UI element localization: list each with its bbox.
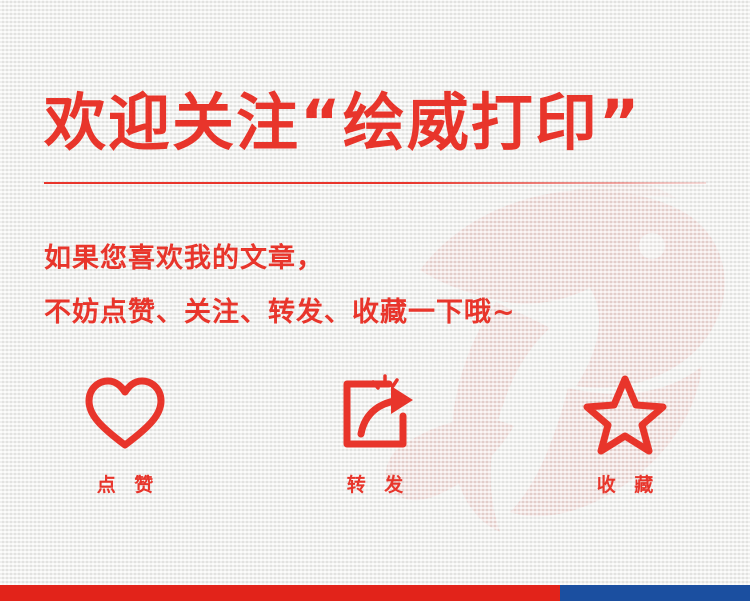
action-icons-row: 点 赞 转 发 xyxy=(0,372,750,522)
action-share[interactable]: 转 发 xyxy=(250,372,500,522)
subtitle-line-1: 如果您喜欢我的文章， xyxy=(44,236,324,275)
action-favorite-label: 收 藏 xyxy=(591,470,660,497)
star-icon[interactable] xyxy=(582,372,668,456)
action-like-label: 点 赞 xyxy=(91,470,160,497)
footer-bar-red xyxy=(0,585,560,601)
headline-prefix: 欢迎关注 xyxy=(44,86,300,159)
action-favorite[interactable]: 收 藏 xyxy=(500,372,750,522)
action-share-label: 转 发 xyxy=(341,470,410,497)
share-forward-icon[interactable] xyxy=(331,372,419,456)
action-like[interactable]: 点 赞 xyxy=(0,372,250,522)
heart-icon[interactable] xyxy=(83,372,167,456)
promo-poster: 欢迎关注“绘威打印” 如果您喜欢我的文章， 不妨点赞、关注、转发、收藏一下哦~ … xyxy=(0,0,750,601)
footer-bar-blue xyxy=(560,585,750,601)
headline-quote-close: ” xyxy=(599,86,642,159)
subtitle-line-2: 不妨点赞、关注、转发、收藏一下哦~ xyxy=(44,290,516,329)
page-title: 欢迎关注“绘威打印” xyxy=(44,72,642,162)
headline-brand: 绘威打印 xyxy=(343,86,599,159)
divider xyxy=(44,182,706,184)
footer-bar xyxy=(0,585,750,601)
headline-quote-open: “ xyxy=(300,86,343,159)
